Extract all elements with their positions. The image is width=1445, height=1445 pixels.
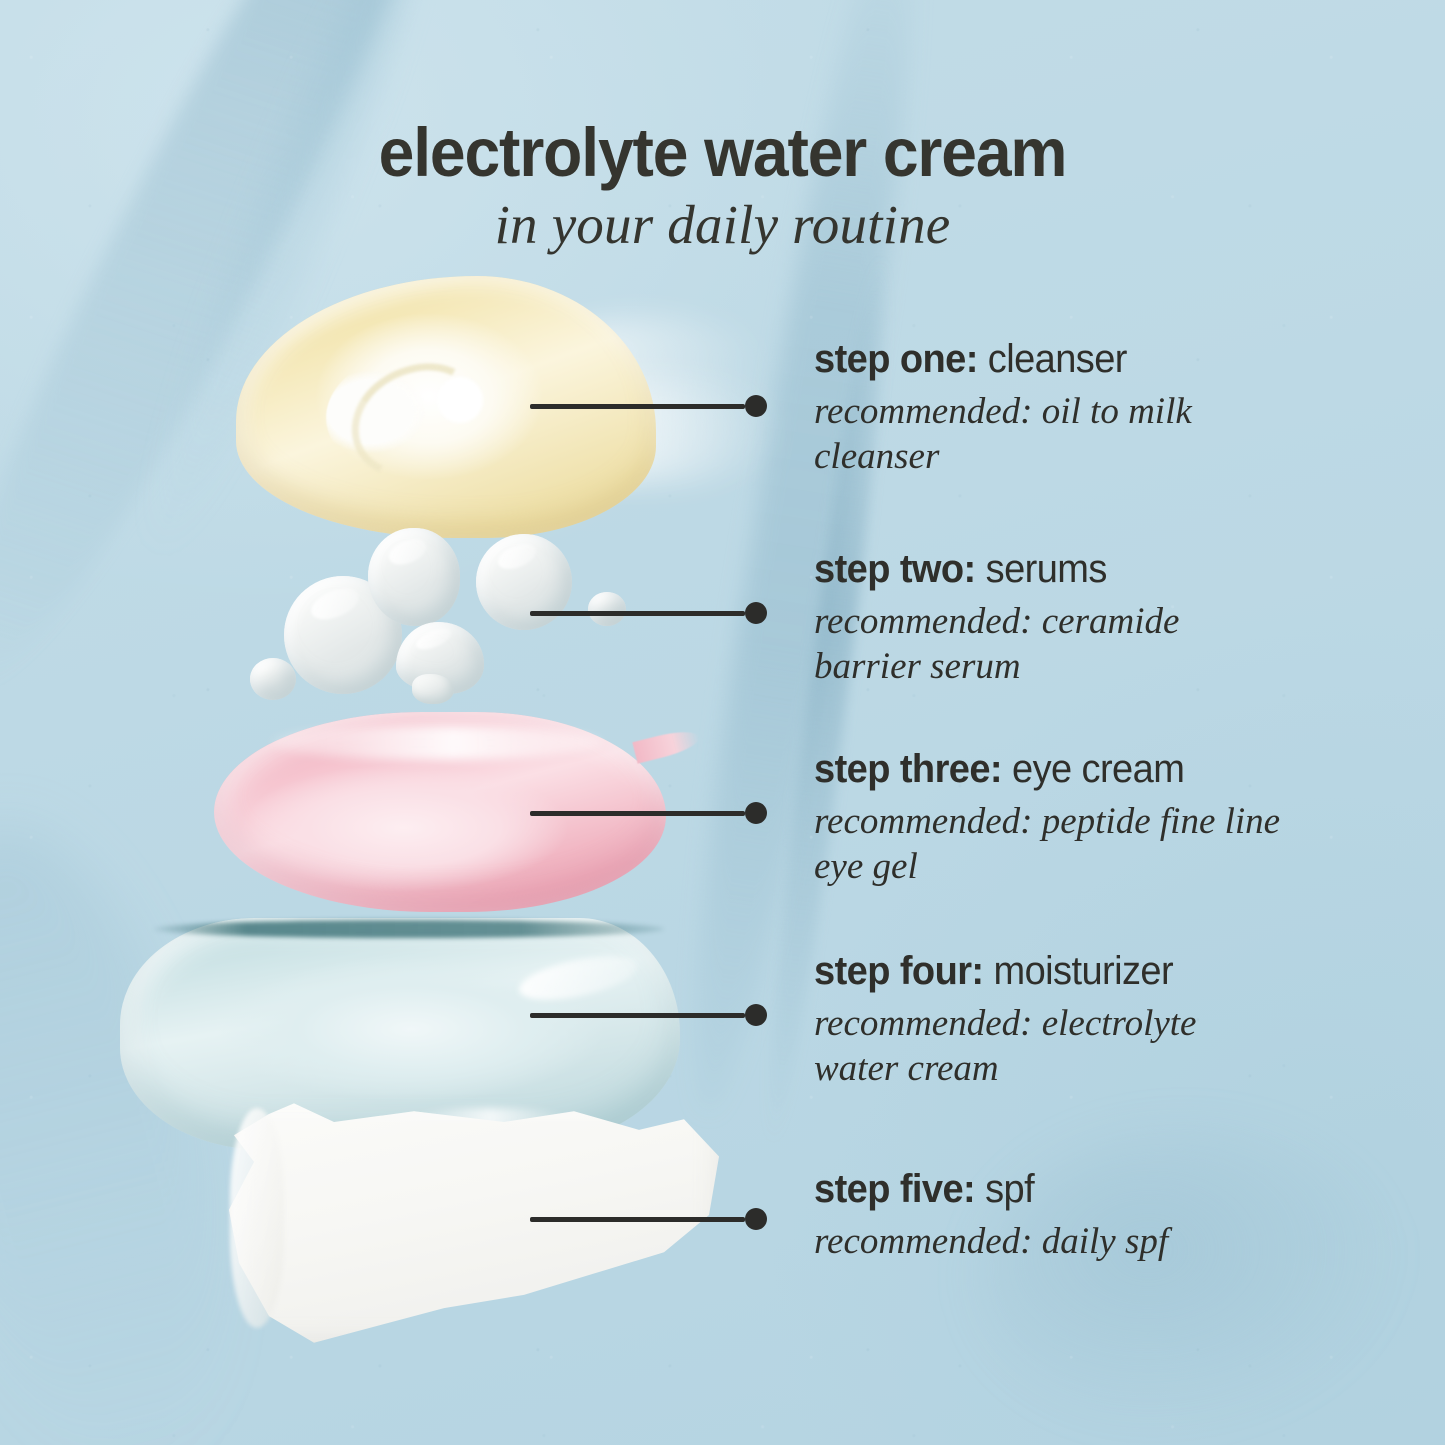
droplet-gloss-icon (386, 534, 430, 568)
eye-cream-highlight (272, 726, 602, 760)
leader-line (530, 811, 745, 816)
step-three-value: eye cream (1012, 747, 1184, 791)
eye-cream-tail (632, 726, 701, 763)
step-two-recommendation: recommended: ceramide barrier serum (814, 599, 1284, 689)
step-five-label: step five: (814, 1167, 975, 1211)
step-item-three: step three: eye cream recommended: pepti… (814, 748, 1284, 889)
step-one-label: step one: (814, 337, 978, 381)
leader-line-step-four (530, 1004, 767, 1026)
infographic-canvas: electrolyte water cream in your daily ro… (0, 0, 1445, 1445)
step-two-heading: step two: serums (814, 548, 1261, 591)
step-three-recommendation: recommended: peptide fine line eye gel (814, 799, 1284, 889)
leader-line-step-five (530, 1208, 767, 1230)
step-four-heading: step four: moisturizer (814, 950, 1261, 993)
step-item-four: step four: moisturizer recommended: elec… (814, 950, 1284, 1091)
leader-dot-icon (745, 1208, 767, 1230)
step-four-recommendation: recommended: electrolyte water cream (814, 1001, 1284, 1091)
leader-line-step-one (530, 395, 767, 417)
leader-dot-icon (745, 1004, 767, 1026)
step-two-label: step two: (814, 547, 976, 591)
leader-dot-icon (745, 602, 767, 624)
spf-swatch-body (224, 1098, 724, 1364)
droplet-gloss-icon (414, 625, 454, 654)
step-two-value: serums (986, 547, 1107, 591)
leader-line (530, 1217, 745, 1222)
step-one-recommendation: recommended: oil to milk cleanser (814, 389, 1284, 479)
step-item-two: step two: serums recommended: ceramide b… (814, 548, 1284, 689)
step-three-label: step three: (814, 747, 1002, 791)
step-five-value: spf (985, 1167, 1034, 1211)
leader-dot-icon (745, 395, 767, 417)
droplet-gloss-icon (495, 540, 540, 575)
leader-line-step-three (530, 802, 767, 824)
step-item-five: step five: spf recommended: daily spf (814, 1168, 1284, 1264)
serum-droplet (250, 658, 296, 700)
step-item-one: step one: cleanser recommended: oil to m… (814, 338, 1284, 479)
moisturizer-top-edge (154, 920, 664, 938)
spf-ridge (230, 1108, 284, 1328)
serum-droplet (396, 622, 484, 694)
leader-line (530, 611, 745, 616)
cleanser-swirl (326, 350, 516, 480)
serum-droplets-swatch (236, 520, 656, 730)
leader-dot-icon (745, 802, 767, 824)
step-five-heading: step five: spf (814, 1168, 1261, 1211)
step-three-heading: step three: eye cream (814, 748, 1261, 791)
step-one-value: cleanser (988, 337, 1127, 381)
serum-droplet (368, 528, 460, 626)
step-four-label: step four: (814, 949, 984, 993)
leader-line-step-two (530, 602, 767, 624)
droplet-gloss-icon (307, 583, 363, 626)
spf-swatch (224, 1098, 724, 1364)
leader-line (530, 1013, 745, 1018)
step-four-value: moisturizer (994, 949, 1174, 993)
leader-line (530, 404, 745, 409)
step-one-heading: step one: cleanser (814, 338, 1261, 381)
step-five-recommendation: recommended: daily spf (814, 1219, 1284, 1264)
